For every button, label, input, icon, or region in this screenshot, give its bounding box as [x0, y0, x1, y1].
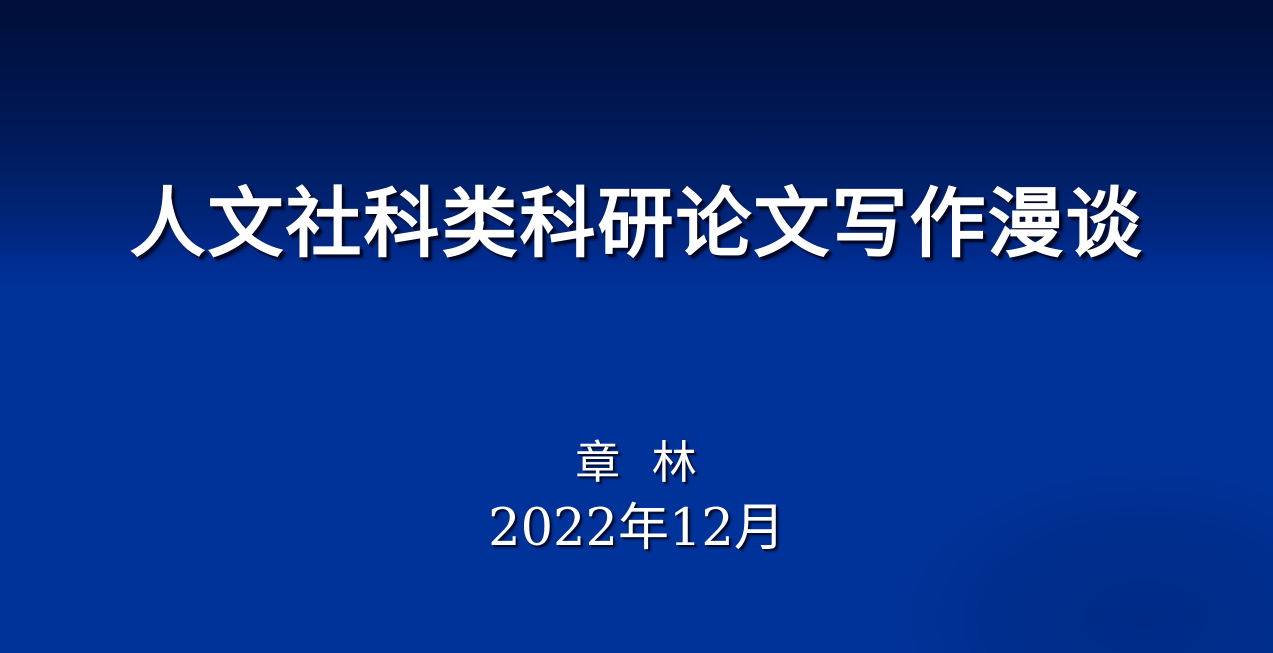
slide-title: 人文社科类科研论文写作漫谈 [0, 176, 1273, 272]
slide-date: 2022年12月 [0, 497, 1273, 561]
presentation-title-slide: 人文社科类科研论文写作漫谈 章 林 2022年12月 [0, 0, 1273, 653]
slide-author: 章 林 [0, 434, 1273, 492]
